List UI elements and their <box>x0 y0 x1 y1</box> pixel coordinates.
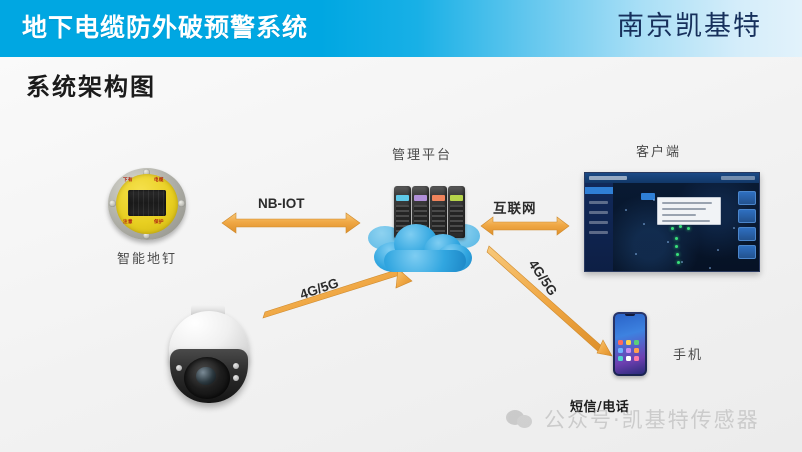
nail-bolt-icon <box>109 200 116 207</box>
arrow-label-4g5g-camera: 4G/5G <box>298 275 340 302</box>
ir-led-icon <box>233 375 239 381</box>
sidebar-item[interactable] <box>589 221 608 224</box>
ptz-camera-device <box>163 305 255 405</box>
sidebar-item-active[interactable] <box>585 187 613 194</box>
arrow-nail-platform <box>222 213 360 233</box>
watermark-text: 公众号·凯基特传感器 <box>544 404 760 434</box>
sidebar-item[interactable] <box>589 201 608 204</box>
wechat-icon <box>506 408 536 430</box>
arrow-label-4g5g-phone: 4G/5G <box>526 257 561 298</box>
map-marker[interactable] <box>676 253 679 256</box>
wechat-watermark: 公众号·凯基特传感器 <box>506 404 760 434</box>
map-marker[interactable] <box>671 227 674 230</box>
page-title: 地下电缆防外破预警系统 <box>22 11 308 45</box>
phone-notch <box>625 314 635 316</box>
server-strip <box>432 195 445 201</box>
sidebar-item[interactable] <box>589 231 608 234</box>
slide-header: 地下电缆防外破预警系统 南京凯基特 <box>0 0 802 57</box>
nail-text-4: 保护 <box>154 219 164 225</box>
dashboard-user-placeholder <box>721 176 755 180</box>
map-marker[interactable] <box>687 227 690 230</box>
solar-panel <box>128 190 166 216</box>
map-canvas[interactable] <box>613 183 759 271</box>
server-strip <box>414 195 427 201</box>
map-marker[interactable] <box>675 237 678 240</box>
map-tool-button[interactable] <box>738 245 756 259</box>
server-strip <box>450 195 463 201</box>
map-tool-button[interactable] <box>738 227 756 241</box>
client-dashboard <box>584 172 760 272</box>
map-marker[interactable] <box>675 245 678 248</box>
ir-led-icon <box>176 365 182 371</box>
map-marker[interactable] <box>677 261 680 264</box>
smart-ground-nail-device: 下有 电缆 注意 保护 <box>108 168 186 240</box>
nail-face: 下有 电缆 注意 保护 <box>116 174 178 234</box>
phone-label: 手机 <box>673 344 703 363</box>
dashboard-topbar <box>585 173 759 183</box>
management-platform-cloud <box>368 182 478 274</box>
cloud-icon <box>374 222 474 272</box>
phone-frame <box>613 312 647 376</box>
ir-led-icon <box>233 363 239 369</box>
nail-text-1: 下有 <box>123 177 133 183</box>
map-tool-button[interactable] <box>738 209 756 223</box>
dashboard-sidebar[interactable] <box>585 183 613 271</box>
slide-canvas: 地下电缆防外破预警系统 南京凯基特 系统架构图 <box>0 0 802 452</box>
map-tool-button[interactable] <box>738 191 756 205</box>
server-strip <box>396 195 409 201</box>
nail-text-2: 电缆 <box>154 177 164 183</box>
map-marker[interactable] <box>679 225 682 228</box>
camera-head <box>170 349 248 403</box>
arrow-label-internet: 互联网 <box>493 197 537 217</box>
ground-nail-label: 智能地钉 <box>98 248 196 267</box>
map-info-popup <box>657 197 721 225</box>
mobile-phone-device <box>613 312 647 376</box>
sidebar-item[interactable] <box>589 211 608 214</box>
section-title: 系统架构图 <box>26 67 156 102</box>
brand-logo-text: 南京凯基特 <box>617 9 762 45</box>
camera-lens <box>184 357 230 399</box>
nail-text-3: 注意 <box>123 219 133 225</box>
platform-label: 管理平台 <box>392 144 452 163</box>
arrow-platform-client <box>481 217 569 235</box>
arrow-camera-platform <box>263 268 412 318</box>
phone-screen <box>615 314 645 374</box>
client-label: 客户端 <box>636 141 681 160</box>
arrow-label-nbiot: NB-IOT <box>258 196 305 211</box>
client-screen <box>584 172 760 272</box>
nail-bolt-icon <box>178 200 185 207</box>
dashboard-title-placeholder <box>589 176 627 180</box>
